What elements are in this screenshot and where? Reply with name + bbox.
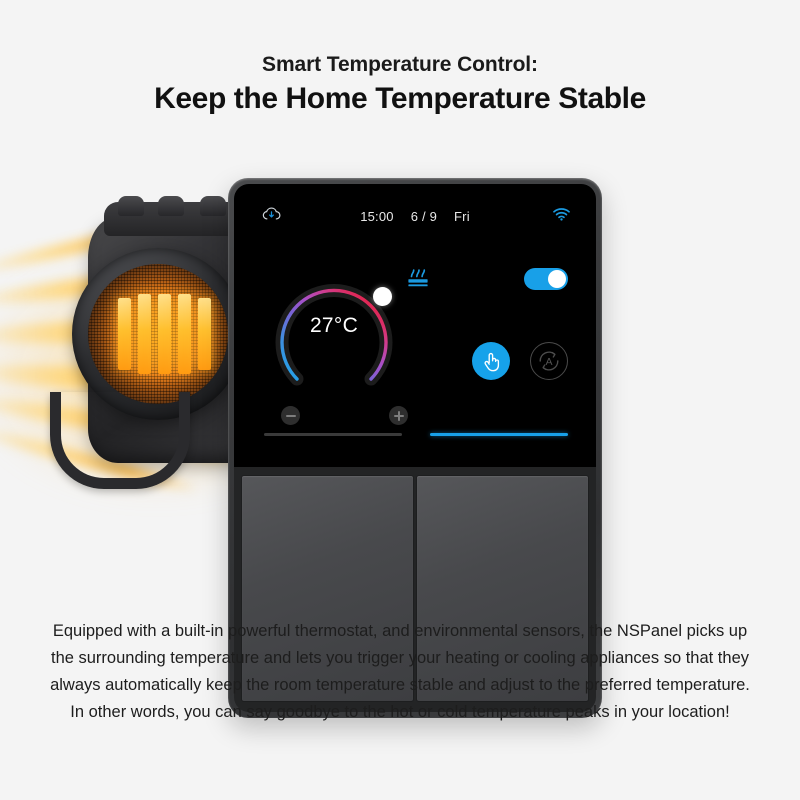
svg-text:A: A bbox=[545, 356, 552, 368]
heater-handle bbox=[50, 392, 190, 489]
right-channel-indicator bbox=[430, 433, 568, 436]
status-date: 6 / 9 bbox=[411, 209, 437, 224]
heating-element bbox=[138, 294, 151, 374]
manual-mode-button[interactable] bbox=[472, 342, 510, 380]
power-toggle[interactable] bbox=[524, 268, 568, 290]
heater-knob-icon bbox=[158, 196, 184, 216]
temperature-decrease-button[interactable] bbox=[281, 406, 300, 425]
heater-grille bbox=[88, 264, 228, 404]
minus-icon bbox=[286, 415, 296, 417]
hand-touch-icon bbox=[482, 351, 501, 372]
heater-knob-icon bbox=[118, 196, 144, 216]
heating-element bbox=[158, 294, 171, 374]
plus-icon bbox=[398, 411, 400, 421]
heating-waves-icon[interactable] bbox=[406, 268, 430, 295]
status-time: 15:00 bbox=[360, 209, 394, 224]
status-weekday: Fri bbox=[454, 209, 470, 224]
thermostat-dial[interactable]: 27°C bbox=[264, 262, 404, 402]
heating-element bbox=[178, 294, 191, 374]
auto-cycle-icon: A bbox=[536, 348, 562, 374]
wifi-icon bbox=[553, 208, 570, 226]
status-bar: 15:00 6 / 9 Fri bbox=[234, 206, 596, 226]
page-header: Smart Temperature Control: Keep the Home… bbox=[0, 52, 800, 118]
heating-element bbox=[198, 298, 211, 370]
heater-knob-icon bbox=[200, 196, 226, 216]
temperature-value: 27°C bbox=[264, 314, 404, 338]
description-paragraph: Equipped with a built-in powerful thermo… bbox=[50, 618, 750, 726]
temperature-increase-button[interactable] bbox=[389, 406, 408, 425]
heating-element bbox=[118, 298, 131, 370]
toggle-knob bbox=[548, 270, 566, 288]
status-bar-center: 15:00 6 / 9 Fri bbox=[234, 209, 596, 224]
dial-knob-handle[interactable] bbox=[373, 287, 392, 306]
left-channel-indicator bbox=[264, 433, 402, 436]
header-kicker: Smart Temperature Control: bbox=[0, 52, 800, 78]
hero-image: 15:00 6 / 9 Fri bbox=[0, 160, 800, 580]
auto-mode-button[interactable]: A bbox=[530, 342, 568, 380]
page-title: Keep the Home Temperature Stable bbox=[0, 81, 800, 118]
panel-screen: 15:00 6 / 9 Fri bbox=[234, 184, 596, 467]
